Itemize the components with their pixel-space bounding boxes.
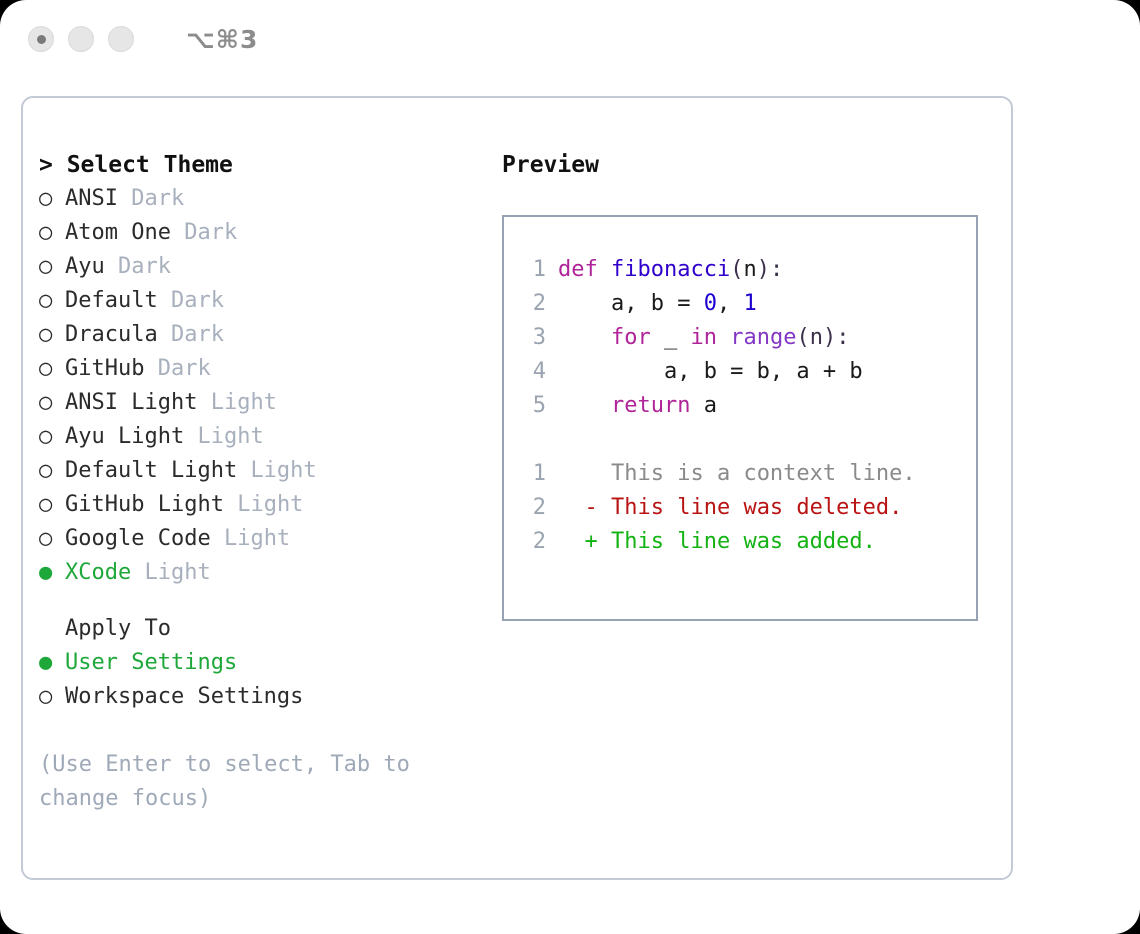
diff-line-ctx: 1 This is a context line.: [504, 457, 976, 491]
theme-variant-label: Dark: [158, 356, 211, 381]
line-number: 5: [522, 389, 546, 423]
radio-unselected-icon: ○: [39, 386, 65, 420]
theme-variant-label: Dark: [184, 220, 237, 245]
radio-unselected-icon: ○: [39, 680, 65, 714]
code-token: def: [558, 257, 598, 282]
spacer: [197, 390, 210, 415]
preview-column: Preview 1def fibonacci(n):2 a, b = 0, 13…: [502, 148, 1002, 621]
code-token: range: [730, 325, 796, 350]
radio-unselected-icon: ○: [39, 216, 65, 250]
spacer: [558, 529, 585, 554]
theme-name: Default Light: [65, 458, 237, 483]
radio-unselected-icon: ○: [39, 182, 65, 216]
diff-line-del: 2 - This line was deleted.: [504, 491, 976, 525]
theme-variant-label: Light: [237, 492, 303, 517]
code-line: 3 for _ in range(n):: [504, 321, 976, 355]
line-number: 2: [522, 287, 546, 321]
spacer: [105, 254, 118, 279]
theme-option-default-light[interactable]: ○Default Light Light: [39, 454, 479, 488]
keyboard-shortcut-label: ⌥⌘3: [186, 25, 258, 54]
window-dot-active[interactable]: [28, 26, 54, 52]
apply-to-label: Workspace Settings: [65, 684, 303, 709]
theme-variant-label: Light: [144, 560, 210, 585]
radio-unselected-icon: ○: [39, 522, 65, 556]
diff-sign: -: [585, 495, 598, 520]
theme-variant-label: Light: [250, 458, 316, 483]
spacer: [504, 423, 976, 457]
diff-sign: +: [585, 529, 598, 554]
theme-name: ANSI: [65, 186, 118, 211]
radio-unselected-icon: ○: [39, 454, 65, 488]
line-number: 2: [522, 525, 546, 559]
apply-to-header: Apply To: [39, 612, 479, 646]
code-token: in: [690, 325, 717, 350]
radio-unselected-icon: ○: [39, 284, 65, 318]
app-root: ⌥⌘3 > Select Theme ○ANSI Dark○Atom One D…: [0, 0, 1140, 934]
theme-option-google-code[interactable]: ○Google Code Light: [39, 522, 479, 556]
code-token: ,: [717, 291, 744, 316]
radio-unselected-icon: ○: [39, 352, 65, 386]
code-preview-panel: 1def fibonacci(n):2 a, b = 0, 13 for _ i…: [502, 215, 978, 621]
theme-variant-label: Dark: [171, 322, 224, 347]
code-token: [598, 257, 611, 282]
line-number: 1: [522, 457, 546, 491]
code-token: a: [690, 393, 717, 418]
theme-name: ANSI Light: [65, 390, 197, 415]
theme-variant-label: Dark: [118, 254, 171, 279]
code-token: for: [611, 325, 651, 350]
spacer: [171, 220, 184, 245]
code-token: a, b =: [558, 291, 704, 316]
code-line: 5 return a: [504, 389, 976, 423]
theme-option-ayu[interactable]: ○Ayu Dark: [39, 250, 479, 284]
code-token: n: [743, 257, 756, 282]
spacer: [237, 458, 250, 483]
code-token: [558, 325, 611, 350]
diff-block: 1 This is a context line.2 - This line w…: [504, 457, 976, 559]
code-block: 1def fibonacci(n):2 a, b = 0, 13 for _ i…: [504, 253, 976, 423]
theme-list: ○ANSI Dark○Atom One Dark○Ayu Dark○Defaul…: [39, 182, 479, 590]
code-token: [558, 393, 611, 418]
theme-name: Dracula: [65, 322, 158, 347]
diff-line-add: 2 + This line was added.: [504, 525, 976, 559]
radio-selected-icon: ●: [39, 556, 65, 590]
code-token: [717, 325, 730, 350]
theme-variant-label: Light: [224, 526, 290, 551]
line-number: 4: [522, 355, 546, 389]
code-token: 0: [704, 291, 717, 316]
theme-option-github-light[interactable]: ○GitHub Light Light: [39, 488, 479, 522]
spacer: [211, 526, 224, 551]
spacer: [224, 492, 237, 517]
radio-unselected-icon: ○: [39, 488, 65, 522]
apply-to-option-workspace-settings[interactable]: ○Workspace Settings: [39, 680, 479, 714]
diff-text: This line was deleted.: [598, 495, 903, 520]
diff-text: This line was added.: [598, 529, 876, 554]
theme-variant-label: Dark: [131, 186, 184, 211]
window-dot-active-center: [37, 35, 46, 44]
spacer: [158, 288, 171, 313]
code-token: 1: [743, 291, 756, 316]
code-token: (n):: [796, 325, 849, 350]
theme-option-ayu-light[interactable]: ○Ayu Light Light: [39, 420, 479, 454]
code-line: 1def fibonacci(n):: [504, 253, 976, 287]
code-token: a, b = b, a + b: [558, 359, 863, 384]
theme-variant-label: Light: [197, 424, 263, 449]
theme-option-atom-one[interactable]: ○Atom One Dark: [39, 216, 479, 250]
code-token: (: [730, 257, 743, 282]
theme-name: XCode: [65, 560, 131, 585]
line-number: 2: [522, 491, 546, 525]
theme-list-column: > Select Theme ○ANSI Dark○Atom One Dark○…: [39, 148, 479, 816]
window-titlebar: ⌥⌘3: [0, 0, 1140, 78]
code-token: ):: [757, 257, 784, 282]
theme-option-ansi-light[interactable]: ○ANSI Light Light: [39, 386, 479, 420]
spacer: [39, 590, 479, 612]
window-dot-second[interactable]: [68, 26, 94, 52]
spacer: [558, 495, 585, 520]
theme-name: Atom One: [65, 220, 171, 245]
preview-header: Preview: [502, 148, 1002, 182]
apply-to-label: User Settings: [65, 650, 237, 675]
spacer: [118, 186, 131, 211]
code-token: return: [611, 393, 690, 418]
diff-sign: [585, 461, 598, 486]
theme-option-github[interactable]: ○GitHub Dark: [39, 352, 479, 386]
theme-name: GitHub Light: [65, 492, 224, 517]
theme-option-xcode[interactable]: ●XCode Light: [39, 556, 479, 590]
radio-unselected-icon: ○: [39, 250, 65, 284]
spacer: [131, 560, 144, 585]
radio-unselected-icon: ○: [39, 420, 65, 454]
spacer: [558, 461, 585, 486]
radio-selected-icon: ●: [39, 646, 65, 680]
theme-selector-window: > Select Theme ○ANSI Dark○Atom One Dark○…: [21, 96, 1013, 880]
theme-name: Ayu: [65, 254, 105, 279]
theme-name: Google Code: [65, 526, 211, 551]
apply-to-list: ●User Settings○Workspace Settings: [39, 646, 479, 714]
spacer: [39, 714, 479, 748]
two-column-layout: > Select Theme ○ANSI Dark○Atom One Dark○…: [23, 98, 1011, 878]
radio-unselected-icon: ○: [39, 318, 65, 352]
theme-name: GitHub: [65, 356, 144, 381]
line-number: 1: [522, 253, 546, 287]
theme-option-dracula[interactable]: ○Dracula Dark: [39, 318, 479, 352]
code-token: _: [651, 325, 691, 350]
spacer: [184, 424, 197, 449]
theme-variant-label: Dark: [171, 288, 224, 313]
code-line: 4 a, b = b, a + b: [504, 355, 976, 389]
spacer: [144, 356, 157, 381]
theme-option-default[interactable]: ○Default Dark: [39, 284, 479, 318]
code-token: fibonacci: [611, 257, 730, 282]
line-number: 3: [522, 321, 546, 355]
diff-text: This is a context line.: [598, 461, 916, 486]
theme-variant-label: Light: [211, 390, 277, 415]
theme-name: Default: [65, 288, 158, 313]
theme-option-ansi[interactable]: ○ANSI Dark: [39, 182, 479, 216]
spacer: [158, 322, 171, 347]
window-dot-third[interactable]: [108, 26, 134, 52]
theme-name: Ayu Light: [65, 424, 184, 449]
apply-to-option-user-settings[interactable]: ●User Settings: [39, 646, 479, 680]
code-line: 2 a, b = 0, 1: [504, 287, 976, 321]
select-theme-header: > Select Theme: [39, 148, 479, 182]
keyboard-hint-text: (Use Enter to select, Tab to change focu…: [39, 748, 439, 816]
